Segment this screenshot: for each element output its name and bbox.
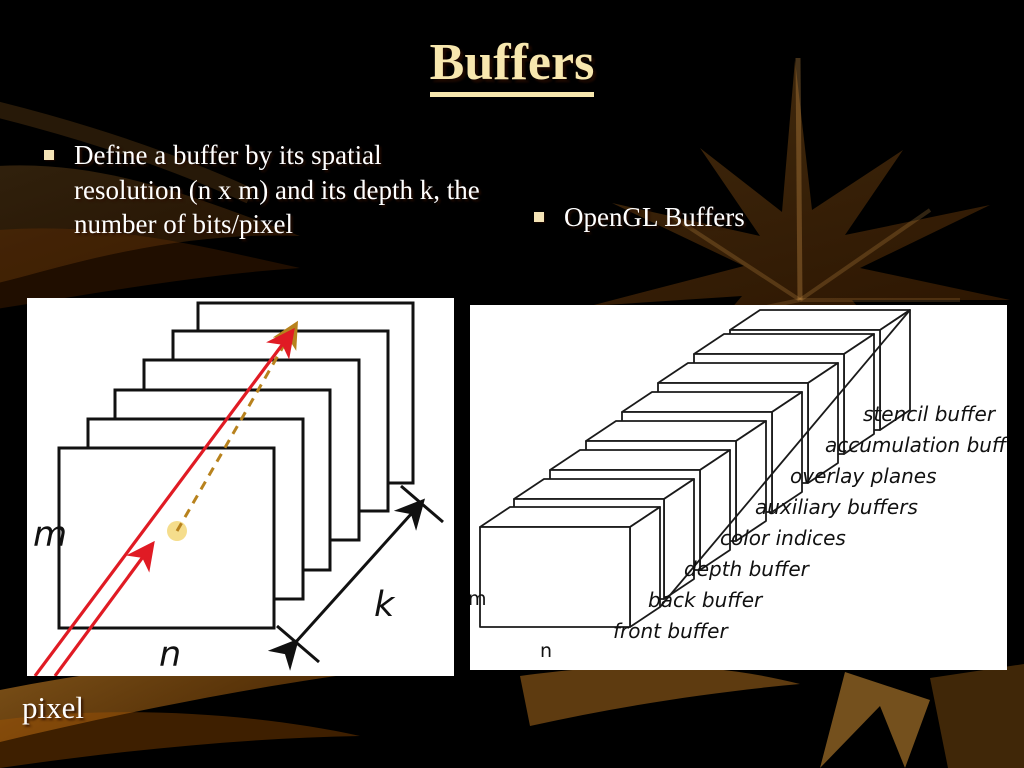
buffer-plane-stack — [59, 303, 413, 628]
slab-label-depth-buffer: depth buffer — [684, 557, 811, 581]
figure-buffer-stack: m n k — [27, 298, 454, 676]
slab-label-auxiliary-buffers: auxiliary buffers — [755, 495, 918, 519]
caption-pixel: pixel — [22, 690, 84, 726]
bullet-item-definition-label: Define a buffer by its spatial resolutio… — [74, 138, 494, 242]
bullet-marker-icon — [44, 150, 54, 160]
label-m: m — [470, 588, 487, 610]
slab-label-stencil-buffer: stencil buffer — [863, 402, 997, 426]
bullet-item-definition: Define a buffer by its spatial resolutio… — [44, 138, 494, 242]
label-m: m — [33, 515, 67, 555]
bullet-item-opengl: OpenGL Buffers — [534, 200, 974, 235]
label-n: n — [159, 635, 181, 675]
slab-label-overlay-planes: overlay planes — [790, 464, 937, 488]
page-title: Buffers — [0, 36, 1024, 97]
bullet-item-opengl-label: OpenGL Buffers — [564, 200, 745, 235]
figure-opengl-buffers: stencil buffer accumulation buffer overl… — [470, 305, 1007, 670]
slab-label-front-buffer: front buffer — [613, 619, 729, 643]
bullet-marker-icon — [534, 212, 544, 222]
slab-label-accumulation-buffer: accumulation buffer — [825, 433, 1007, 457]
label-n: n — [540, 640, 552, 662]
slab-label-back-buffer: back buffer — [648, 588, 764, 612]
page-title-text: Buffers — [430, 36, 595, 97]
slab-front-buffer — [480, 507, 660, 627]
slide: Buffers Define a buffer by its spatial r… — [0, 0, 1024, 768]
label-k: k — [374, 585, 396, 625]
slab-label-color-indices: color indices — [720, 526, 846, 550]
